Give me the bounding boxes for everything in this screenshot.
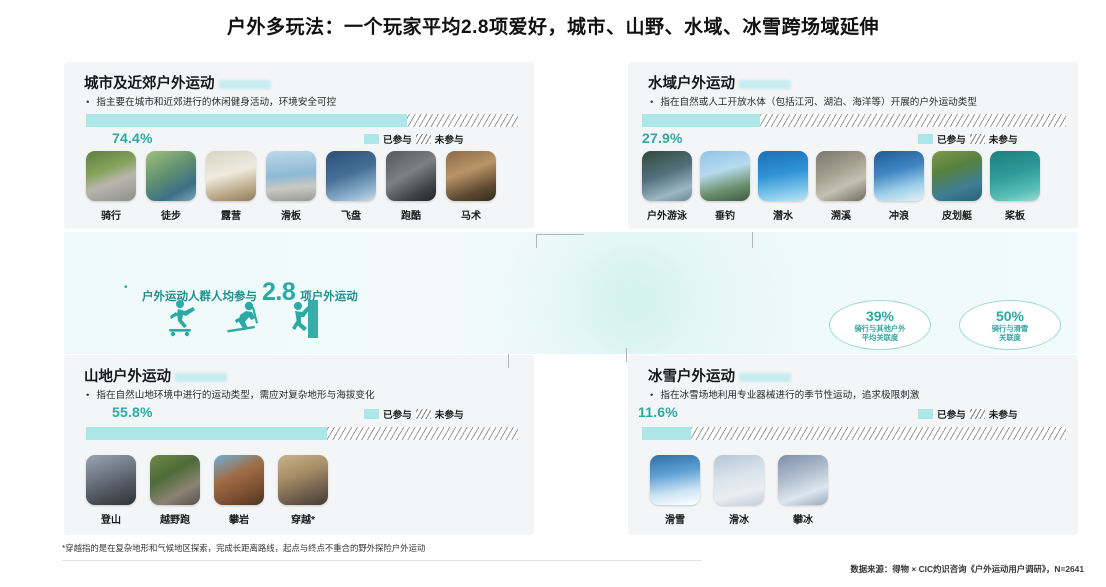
- activity-label: 溯溪: [831, 207, 851, 222]
- infographic-page: 户外多玩法：一个玩家平均2.8项爱好，城市、山野、水域、冰雪跨场域延伸 城市及近…: [0, 0, 1106, 587]
- bar-fill-participated: [86, 427, 327, 440]
- legend-participated-label: 已参与: [937, 132, 966, 146]
- activity-label: 桨板: [1005, 207, 1025, 222]
- activity-thumbnail: [874, 151, 924, 201]
- activity-label: 穿越*: [291, 511, 315, 526]
- panel-water-heading: 水域户外运动: [648, 72, 791, 93]
- activity-thumbnail: [386, 151, 436, 201]
- heading-highlight: [739, 80, 791, 89]
- activity-label: 滑冰: [729, 511, 749, 526]
- badge-cycling-ski: 50% 骑行与滑雪 关联度: [959, 300, 1061, 350]
- activity-label: 飞盘: [341, 207, 361, 222]
- activity-thumbnail: [932, 151, 982, 201]
- activity-label: 潜水: [773, 207, 793, 222]
- panel-water-bar: [642, 114, 1066, 127]
- center-bullet-dot: •: [124, 282, 128, 293]
- connector-water-up: [752, 232, 753, 248]
- activity-label: 露营: [221, 207, 241, 222]
- activity-label: 皮划艇: [942, 207, 972, 222]
- panel-snow-percent: 11.6%: [638, 404, 678, 420]
- activity-item[interactable]: 穿越*: [278, 455, 328, 526]
- bar-fill-participated: [642, 427, 691, 440]
- activity-label: 徒步: [161, 207, 181, 222]
- data-source: 数据来源：得物 × CIC灼识咨询《户外运动用户调研》，N=2641: [850, 563, 1084, 575]
- bar-track-not-participated: [642, 427, 1066, 440]
- panel-city-bar: [86, 114, 518, 127]
- center-band: • 户外运动人群人均参与 2.8 项户外运动: [64, 232, 1078, 354]
- legend-not-participated-label: 未参与: [435, 407, 464, 421]
- activity-label: 骑行: [101, 207, 121, 222]
- activity-item[interactable]: 溯溪: [816, 151, 866, 222]
- activity-thumbnail: [700, 151, 750, 201]
- panel-city-description: •指主要在城市和近郊进行的休闲健身活动，环境安全可控: [86, 94, 336, 108]
- activity-label: 马术: [461, 207, 481, 222]
- connector-city-up: [536, 234, 537, 248]
- activity-thumbnail: [146, 151, 196, 201]
- activity-label: 跑酷: [401, 207, 421, 222]
- panel-snow-activities: 滑雪滑冰攀冰: [650, 455, 828, 526]
- legend-solid-swatch: [918, 134, 933, 144]
- badge-label-line1: 骑行与滑雪: [992, 324, 1028, 333]
- badge-cycling-others: 39% 骑行与其他户外 平均关联度: [829, 300, 931, 350]
- activity-label: 攀冰: [793, 511, 813, 526]
- activity-item[interactable]: 滑雪: [650, 455, 700, 526]
- heading-highlight: [219, 80, 271, 89]
- bullet-dot: •: [650, 390, 653, 401]
- activity-label: 越野跑: [160, 511, 190, 526]
- legend-not-participated-label: 未参与: [989, 407, 1018, 421]
- activity-thumbnail: [816, 151, 866, 201]
- panel-water-legend: 已参与 未参与: [918, 132, 1018, 146]
- panel-city-outdoor: 城市及近郊户外运动 •指主要在城市和近郊进行的休闲健身活动，环境安全可控 74.…: [64, 62, 534, 229]
- panel-mountain-activities: 登山越野跑攀岩穿越*: [86, 455, 328, 526]
- activity-thumbnail: [758, 151, 808, 201]
- panel-mountain-percent: 55.8%: [112, 404, 153, 420]
- activity-thumbnail: [266, 151, 316, 201]
- activity-thumbnail: [150, 455, 200, 505]
- panel-city-percent: 74.4%: [112, 130, 153, 146]
- legend-not-participated-label: 未参与: [989, 132, 1018, 146]
- activity-item[interactable]: 越野跑: [150, 455, 200, 526]
- panel-snow-description: •指在冰雪场地利用专业器械进行的季节性运动，追求极限刺激: [650, 387, 919, 401]
- legend-hatch-swatch: [416, 134, 431, 144]
- bar-fill-participated: [86, 114, 407, 127]
- activity-thumbnail: [86, 151, 136, 201]
- activity-thumbnail: [86, 455, 136, 505]
- activity-thumbnail: [778, 455, 828, 505]
- activity-item[interactable]: 登山: [86, 455, 136, 526]
- badge-label-line1: 骑行与其他户外: [854, 324, 905, 333]
- page-title: 户外多玩法：一个玩家平均2.8项爱好，城市、山野、水域、冰雪跨场域延伸: [0, 12, 1106, 39]
- legend-hatch-swatch: [970, 134, 985, 144]
- activity-label: 滑板: [281, 207, 301, 222]
- activity-item[interactable]: 桨板: [990, 151, 1040, 222]
- footer-divider: [62, 560, 702, 561]
- activity-thumbnail: [642, 151, 692, 201]
- activity-label: 攀岩: [229, 511, 249, 526]
- climber-icon: [286, 298, 320, 340]
- activity-item[interactable]: 潜水: [758, 151, 808, 222]
- legend-solid-swatch: [918, 409, 933, 419]
- bullet-dot: •: [86, 97, 89, 108]
- panel-snow-bar: [642, 427, 1066, 440]
- panel-mountain-outdoor: 山地户外运动 •指在自然山地环境中进行的运动类型，需应对复杂地形与海拔变化 55…: [64, 355, 534, 535]
- panel-snow-heading: 冰雪户外运动: [648, 365, 791, 386]
- panel-water-outdoor: 水域户外运动 •指在自然或人工开放水体（包括江河、湖泊、海洋等）开展的户外运动类…: [628, 62, 1078, 229]
- activity-item[interactable]: 滑板: [266, 151, 316, 222]
- panel-water-percent: 27.9%: [642, 130, 683, 146]
- connector-snow-down: [626, 348, 627, 362]
- activity-item[interactable]: 攀冰: [778, 455, 828, 526]
- activity-label: 滑雪: [665, 511, 685, 526]
- panel-city-activities: 骑行徒步露营滑板飞盘跑酷马术: [86, 151, 496, 222]
- panel-city-heading: 城市及近郊户外运动: [84, 72, 271, 93]
- activity-thumbnail: [214, 455, 264, 505]
- badge-value: 50%: [996, 309, 1024, 324]
- legend-participated-label: 已参与: [383, 407, 412, 421]
- activity-item[interactable]: 马术: [446, 151, 496, 222]
- activity-item[interactable]: 皮划艇: [932, 151, 982, 222]
- bullet-dot: •: [86, 390, 89, 401]
- panel-snow-legend: 已参与 未参与: [918, 407, 1018, 421]
- activity-item[interactable]: 冲浪: [874, 151, 924, 222]
- heading-highlight: [175, 373, 227, 382]
- center-pictograms: [164, 298, 320, 340]
- activity-thumbnail: [206, 151, 256, 201]
- legend-solid-swatch: [364, 134, 379, 144]
- footnote: *穿越指的是在复杂地形和气候地区探索，完成长距离路线，起点与终点不重合的野外探险…: [62, 542, 425, 554]
- activity-thumbnail: [650, 455, 700, 505]
- badge-value: 39%: [866, 309, 894, 324]
- panel-city-legend: 已参与 未参与: [364, 132, 464, 146]
- panel-water-activities: 户外游泳垂钓潜水溯溪冲浪皮划艇桨板: [642, 151, 1040, 222]
- activity-item[interactable]: 户外游泳: [642, 151, 692, 222]
- activity-thumbnail: [990, 151, 1040, 201]
- legend-participated-label: 已参与: [383, 132, 412, 146]
- activity-item[interactable]: 滑冰: [714, 455, 764, 526]
- bullet-dot: •: [650, 97, 653, 108]
- bar-fill-participated: [642, 114, 760, 127]
- activity-item[interactable]: 飞盘: [326, 151, 376, 222]
- activity-item[interactable]: 跑酷: [386, 151, 436, 222]
- legend-participated-label: 已参与: [937, 407, 966, 421]
- legend-hatch-swatch: [970, 409, 985, 419]
- legend-hatch-swatch: [416, 409, 431, 419]
- activity-item[interactable]: 露营: [206, 151, 256, 222]
- legend-solid-swatch: [364, 409, 379, 419]
- connector-city-horizontal: [536, 234, 584, 235]
- badge-label-line2: 关联度: [999, 333, 1021, 342]
- connector-mountain-down: [508, 354, 509, 368]
- panel-mountain-bar: [86, 427, 518, 440]
- activity-label: 户外游泳: [647, 207, 687, 222]
- activity-item[interactable]: 骑行: [86, 151, 136, 222]
- activity-item[interactable]: 攀岩: [214, 455, 264, 526]
- activity-item[interactable]: 徒步: [146, 151, 196, 222]
- legend-not-participated-label: 未参与: [435, 132, 464, 146]
- activity-label: 冲浪: [889, 207, 909, 222]
- skier-icon: [224, 298, 262, 338]
- panel-mountain-legend: 已参与 未参与: [364, 407, 464, 421]
- activity-thumbnail: [278, 455, 328, 505]
- activity-thumbnail: [446, 151, 496, 201]
- panel-water-description: •指在自然或人工开放水体（包括江河、湖泊、海洋等）开展的户外运动类型: [650, 94, 977, 108]
- activity-label: 登山: [101, 511, 121, 526]
- activity-item[interactable]: 垂钓: [700, 151, 750, 222]
- activity-thumbnail: [714, 455, 764, 505]
- panel-snow-outdoor: 冰雪户外运动 •指在冰雪场地利用专业器械进行的季节性运动，追求极限刺激 11.6…: [628, 355, 1078, 535]
- panel-mountain-description: •指在自然山地环境中进行的运动类型，需应对复杂地形与海拔变化: [86, 387, 375, 401]
- heading-highlight: [739, 373, 791, 382]
- skateboarder-icon: [164, 298, 200, 338]
- panel-mountain-heading: 山地户外运动: [84, 365, 227, 386]
- activity-thumbnail: [326, 151, 376, 201]
- badge-label-line2: 平均关联度: [862, 333, 898, 342]
- activity-label: 垂钓: [715, 207, 735, 222]
